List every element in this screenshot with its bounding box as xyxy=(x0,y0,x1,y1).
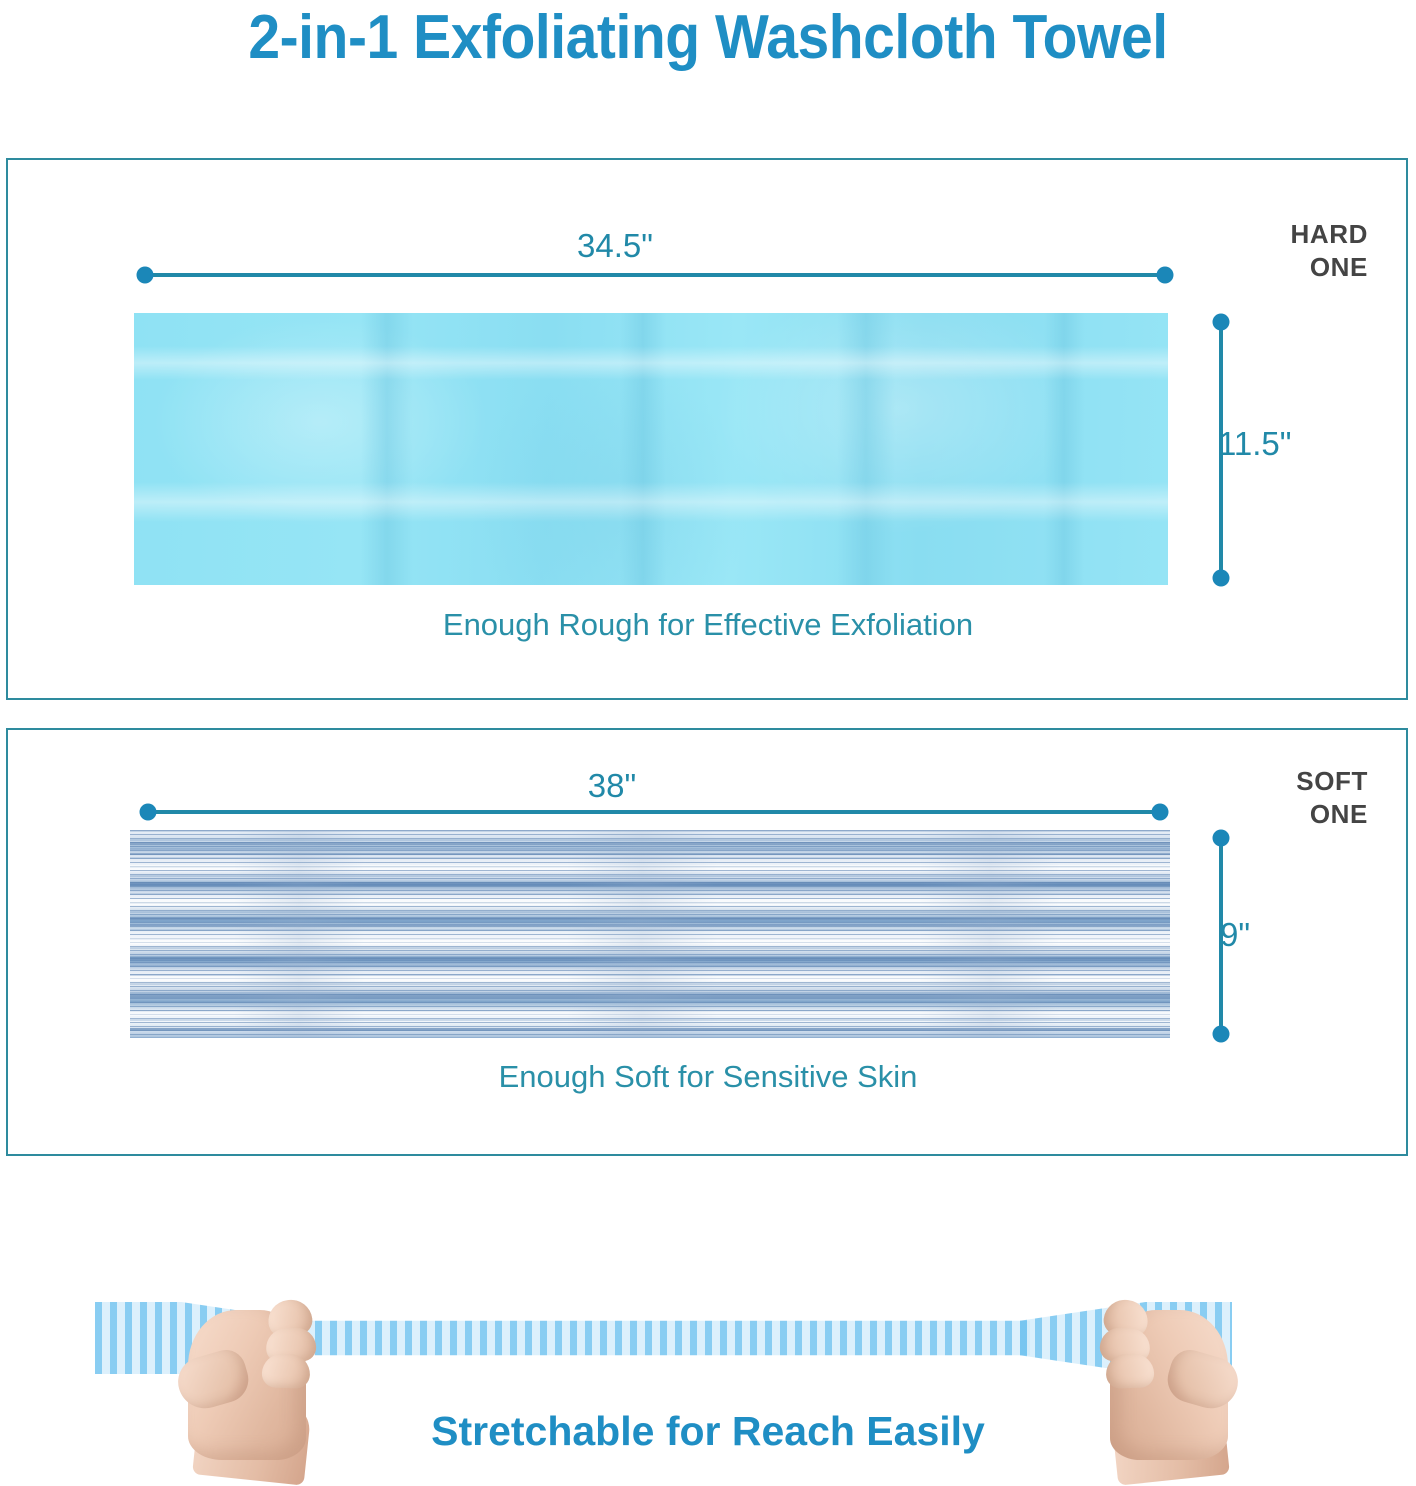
caption-stretchable: Stretchable for Reach Easily xyxy=(0,1408,1416,1455)
dimension-dot-right xyxy=(1152,804,1169,821)
towel-image-soft xyxy=(130,830,1170,1038)
dimension-dot-right xyxy=(1157,267,1174,284)
band-segment-mid xyxy=(300,1302,1030,1374)
dimension-line-bar xyxy=(148,810,1160,814)
dimension-label-soft-height: 9" xyxy=(1220,916,1250,954)
dimension-dot-top xyxy=(1213,314,1230,331)
dimension-dot-left xyxy=(137,267,154,284)
side-label-soft-one: SOFT ONE xyxy=(1168,765,1368,831)
dimension-label-soft-width: 38" xyxy=(588,767,636,805)
side-label-hard-line1: HARD xyxy=(1168,218,1368,251)
dimension-dot-bottom xyxy=(1213,1026,1230,1043)
stretch-demo-section: Stretchable for Reach Easily xyxy=(0,1240,1416,1473)
side-label-hard-line2: ONE xyxy=(1168,251,1368,284)
caption-soft-one: Enough Soft for Sensitive Skin xyxy=(0,1059,1416,1095)
caption-hard-one: Enough Rough for Effective Exfoliation xyxy=(0,607,1416,643)
dimension-dot-left xyxy=(140,804,157,821)
dimension-label-hard-height: 11.5" xyxy=(1218,425,1292,463)
dimension-dot-top xyxy=(1213,830,1230,847)
finger-ring xyxy=(261,1353,310,1389)
finger-ring xyxy=(1105,1353,1154,1389)
dimension-dot-bottom xyxy=(1213,570,1230,587)
dimension-line-soft-width xyxy=(148,803,1160,821)
dimension-line-bar xyxy=(145,273,1165,277)
side-label-hard-one: HARD ONE xyxy=(1168,218,1368,284)
dimension-line-hard-width xyxy=(145,266,1165,284)
side-label-soft-line1: SOFT xyxy=(1168,765,1368,798)
side-label-soft-line2: ONE xyxy=(1168,798,1368,831)
towel-image-hard xyxy=(134,313,1168,585)
page-title: 2-in-1 Exfoliating Washcloth Towel xyxy=(57,2,1360,73)
dimension-label-hard-width: 34.5" xyxy=(577,227,653,265)
